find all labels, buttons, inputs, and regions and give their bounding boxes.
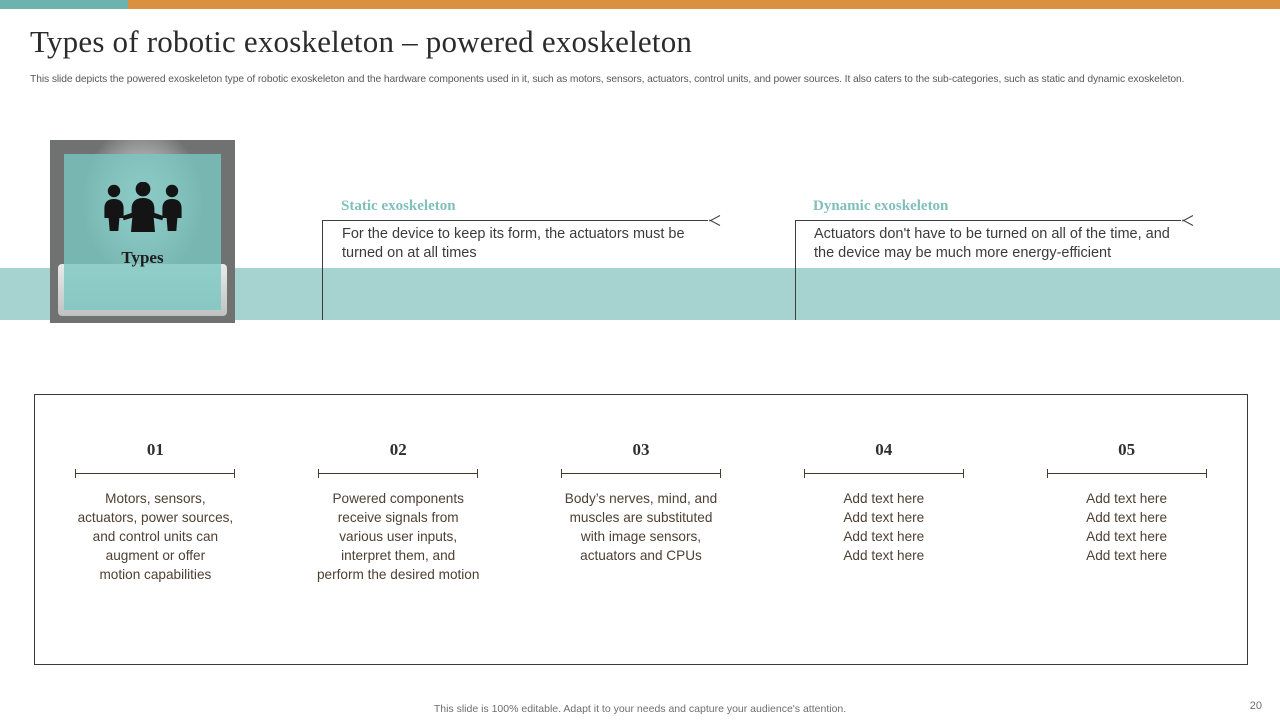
column-body: Body’s nerves, mind, and muscles are sub… — [520, 489, 763, 565]
rule-cap-right — [234, 469, 235, 478]
column-body-line: actuators, power sources, — [40, 508, 271, 527]
column-body-line: Add text here — [768, 489, 999, 508]
column-body-line: Powered components — [283, 489, 514, 508]
column-01: 01 Motors, sensors, actuators, power sou… — [34, 440, 277, 620]
rule-bar — [804, 473, 964, 474]
page-number: 20 — [1250, 700, 1262, 712]
rule-cap-right — [720, 469, 721, 478]
column-body-line: with image sensors, — [526, 527, 757, 546]
numbered-columns: 01 Motors, sensors, actuators, power sou… — [34, 440, 1248, 620]
column-rule — [75, 469, 235, 478]
column-body-line: perform the desired motion — [283, 565, 514, 584]
column-body-line: various user inputs, — [283, 527, 514, 546]
column-rule — [561, 469, 721, 478]
rule-cap-right — [1206, 469, 1207, 478]
top-accent-bar — [0, 0, 1280, 9]
column-02: 02 Powered components receive signals fr… — [277, 440, 520, 620]
column-body-line: muscles are substituted — [526, 508, 757, 527]
column-body-line: Motors, sensors, — [40, 489, 271, 508]
top-accent-teal-segment — [0, 0, 128, 9]
column-body-line: interpret them, and — [283, 546, 514, 565]
column-body: Powered components receive signals from … — [277, 489, 520, 584]
column-body-line: Add text here — [768, 508, 999, 527]
column-body: Add text here Add text here Add text her… — [1005, 489, 1248, 565]
column-body-line: receive signals from — [283, 508, 514, 527]
branch-body-static: For the device to keep its form, the act… — [342, 225, 710, 263]
column-03: 03 Body’s nerves, mind, and muscles are … — [520, 440, 763, 620]
column-body: Add text here Add text here Add text her… — [762, 489, 1005, 565]
branch-body-dynamic: Actuators don't have to be turned on all… — [814, 225, 1192, 263]
column-body-line: Body’s nerves, mind, and — [526, 489, 757, 508]
column-number: 01 — [34, 440, 277, 460]
branch-horizontal-line — [322, 220, 708, 221]
rule-bar — [561, 473, 721, 474]
rule-bar — [318, 473, 478, 474]
column-rule — [1047, 469, 1207, 478]
column-number: 03 — [520, 440, 763, 460]
column-04: 04 Add text here Add text here Add text … — [762, 440, 1005, 620]
branch-horizontal-line — [795, 220, 1181, 221]
branch-heading-static: Static exoskeleton — [341, 198, 456, 215]
column-number: 02 — [277, 440, 520, 460]
footer-note: This slide is 100% editable. Adapt it to… — [0, 703, 1280, 715]
column-number: 04 — [762, 440, 1005, 460]
rule-cap-right — [963, 469, 964, 478]
branch-vertical-line — [795, 220, 796, 320]
column-body-line: Add text here — [1011, 508, 1242, 527]
page-subtitle: This slide depicts the powered exoskelet… — [30, 73, 1235, 87]
people-group-icon — [50, 182, 235, 240]
column-rule — [804, 469, 964, 478]
column-body: Motors, sensors, actuators, power source… — [34, 489, 277, 584]
column-body-line: and control units can — [40, 527, 271, 546]
column-number: 05 — [1005, 440, 1248, 460]
rule-bar — [1047, 473, 1207, 474]
column-body-line: Add text here — [768, 546, 999, 565]
branch-vertical-line — [322, 220, 323, 320]
column-body-line: Add text here — [1011, 527, 1242, 546]
top-accent-orange-segment — [128, 0, 1280, 9]
rule-bar — [75, 473, 235, 474]
photo-label: Types — [50, 248, 235, 268]
types-photo-tile: Types — [50, 140, 235, 323]
column-rule — [318, 469, 478, 478]
rule-cap-right — [477, 469, 478, 478]
page-title: Types of robotic exoskeleton – powered e… — [30, 24, 1240, 60]
column-05: 05 Add text here Add text here Add text … — [1005, 440, 1248, 620]
branch-heading-dynamic: Dynamic exoskeleton — [813, 198, 948, 215]
column-body-line: motion capabilities — [40, 565, 271, 584]
column-body-line: Add text here — [1011, 489, 1242, 508]
column-body-line: augment or offer — [40, 546, 271, 565]
column-body-line: Add text here — [768, 527, 999, 546]
column-body-line: Add text here — [1011, 546, 1242, 565]
column-body-line: actuators and CPUs — [526, 546, 757, 565]
